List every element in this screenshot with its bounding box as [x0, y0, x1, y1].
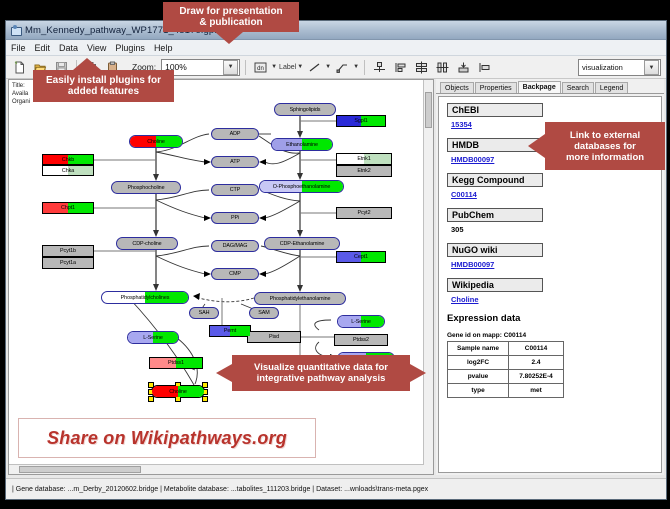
label-icon[interactable]: Label	[279, 64, 296, 71]
gene-node: Pemt	[209, 325, 251, 337]
toolbar-separator-2	[245, 60, 246, 75]
callout-line-1: Easily install plugins for	[46, 75, 161, 86]
chevron-down-icon[interactable]: ▼	[271, 64, 277, 70]
node-label: Ptdss2	[353, 337, 369, 343]
align-center-icon[interactable]	[370, 58, 389, 77]
cofactor-node: CTP	[211, 184, 259, 196]
node-label: CMP	[229, 271, 241, 277]
distribute-vertical-icon[interactable]	[412, 58, 431, 77]
callout-plugins-arrow	[73, 58, 101, 70]
share-banner: Share on Wikipathways.org	[18, 418, 316, 458]
gene-node: Pcyt1b	[42, 245, 94, 257]
cofactor-node: SAM	[249, 307, 279, 319]
tab-search[interactable]: Search	[562, 82, 594, 93]
status-text: | Gene database: ...m_Derby_20120602.bri…	[6, 486, 428, 493]
line-dropdown[interactable]: ▼	[305, 58, 331, 77]
menu-item-help[interactable]: Help	[154, 43, 173, 53]
gene-node: Sgpl1	[336, 115, 386, 127]
metabolite-node: CDP-choline	[116, 237, 178, 250]
canvas-horizontal-scrollbar[interactable]	[9, 464, 424, 474]
gene-node: Etnk2	[336, 165, 392, 177]
callout-visualize: Visualize quantitative data for integrat…	[232, 355, 410, 391]
metabolite-node: L-Serine	[337, 315, 385, 328]
label-dropdown[interactable]: Label▼	[279, 64, 303, 71]
db-link-wikipedia[interactable]: Choline	[451, 295, 661, 304]
node-label: Choline	[169, 389, 187, 395]
visualization-value: visualization	[582, 63, 623, 72]
db-heading-wikipedia: Wikipedia	[447, 278, 543, 292]
node-label: PPi	[231, 215, 239, 221]
row-key: log2FC	[448, 356, 509, 370]
node-label: Phosphocholine	[128, 185, 165, 191]
node-label: Ptdss1	[168, 360, 184, 366]
node-label: Pcyt2	[358, 210, 371, 216]
menu-bar: File Edit Data View Plugins Help	[6, 40, 666, 56]
node-label: Pisd	[269, 334, 279, 340]
side-panel-tabs: Objects Properties Backpage Search Legen…	[436, 79, 664, 94]
metabolite-node: Choline	[129, 135, 183, 148]
gene-node: Chkb	[42, 154, 94, 165]
chevron-down-icon[interactable]: ▼	[297, 64, 303, 70]
node-label: Phosphatidylcholines	[121, 295, 170, 301]
scrollbar-thumb[interactable]	[19, 466, 141, 473]
node-label: SAM	[258, 310, 269, 316]
chevron-down-icon[interactable]: ▼	[223, 60, 238, 75]
callout-line-1: Draw for presentation	[179, 6, 282, 17]
pathvisio-icon	[10, 25, 21, 36]
node-label: Ethanolamine	[286, 142, 318, 148]
node-label: Cept1	[354, 254, 368, 260]
menu-item-view[interactable]: View	[87, 43, 106, 53]
tab-objects[interactable]: Objects	[440, 82, 474, 93]
callout-visualize-arrow-right	[410, 364, 426, 382]
callout-line-1: Link to external	[570, 130, 640, 141]
node-label: DAG/MAG	[223, 243, 248, 249]
callout-line-2: databases for	[574, 141, 636, 152]
expression-table: Sample name C00114 log2FC 2.4 pvalue 7.8…	[447, 341, 564, 398]
node-label: Choline	[147, 139, 165, 145]
distribute-horizontal-icon[interactable]	[433, 58, 452, 77]
toolbar-separator-3	[364, 60, 365, 75]
row-key: Sample name	[448, 342, 509, 356]
gene-node: Chka	[42, 165, 94, 176]
cofactor-node: DAG/MAG	[211, 240, 259, 252]
callout-line-2: & publication	[199, 17, 262, 28]
tab-backpage[interactable]: Backpage	[518, 81, 561, 93]
metabolite-node-selected: Choline	[151, 385, 205, 398]
db-heading-pubchem: PubChem	[447, 208, 543, 222]
callout-line-1: Visualize quantitative data for	[254, 362, 388, 373]
canvas-vertical-scrollbar[interactable]	[423, 80, 433, 474]
cofactor-node: PPi	[211, 212, 259, 224]
title-bar: Mm_Kennedy_pathway_WP1771_45176.gpml	[6, 21, 666, 40]
node-label: Pcyt1b	[60, 248, 76, 254]
gene-node: Ptdss1	[149, 357, 203, 369]
callout-plugins: Easily install plugins for added feature…	[33, 70, 174, 102]
status-bar: | Gene database: ...m_Derby_20120602.bri…	[6, 478, 666, 499]
row-value: 7.80252E-4	[509, 370, 564, 384]
chevron-down-icon[interactable]: ▼	[353, 64, 359, 70]
node-label: Sphingolipids	[290, 107, 321, 113]
expression-data-title: Expression data	[447, 313, 661, 324]
visualization-select[interactable]: visualization ▼	[578, 59, 661, 76]
gene-node: Pcyt2	[336, 207, 392, 219]
gene-node: Ptdss2	[334, 334, 388, 346]
node-label: CDP-choline	[132, 241, 161, 247]
cofactor-node: ADP	[211, 128, 259, 140]
gene-node: Cept1	[336, 251, 386, 263]
table-row: type met	[448, 384, 564, 398]
menu-item-plugins[interactable]: Plugins	[115, 43, 145, 53]
gene-node: Pcyt1a	[42, 257, 94, 269]
scrollbar-thumb[interactable]	[425, 92, 432, 128]
db-heading-nugo: NuGO wiki	[447, 243, 543, 257]
line-icon[interactable]	[305, 58, 324, 77]
datanode-dropdown[interactable]: dn ▼	[251, 58, 277, 77]
anchor-icon[interactable]	[333, 58, 352, 77]
metabolite-node: L-Serine	[127, 331, 179, 344]
row-value: 2.4	[509, 356, 564, 370]
row-key: type	[448, 384, 509, 398]
node-label: Pemt	[224, 328, 236, 334]
pathway-canvas[interactable]: Title: Availa Organi	[8, 79, 434, 475]
metabolite-node: O-Phosphoethanolamine	[259, 180, 344, 193]
gene-id-label: Gene id on mapp: C00114	[447, 332, 661, 339]
metabolite-node: Phosphocholine	[111, 181, 181, 194]
table-row: Sample name C00114	[448, 342, 564, 356]
node-label: Chpt1	[61, 205, 75, 211]
chevron-down-icon[interactable]: ▼	[644, 60, 659, 75]
gene-node: Etnk1	[336, 153, 392, 165]
node-label: Etnk1	[357, 156, 370, 162]
row-key: pvalue	[448, 370, 509, 384]
node-label: Etnk2	[357, 168, 370, 174]
db-heading-kegg: Kegg Compound	[447, 173, 543, 187]
metabolite-node: Ethanolamine	[271, 138, 333, 151]
gene-node: Pisd	[247, 331, 301, 343]
metabolite-node: CDP-Ethanolamine	[264, 237, 340, 250]
callout-line-2: integrative pathway analysis	[257, 373, 386, 384]
row-value: met	[509, 384, 564, 398]
tab-legend[interactable]: Legend	[595, 82, 628, 93]
node-label: ATP	[230, 159, 240, 165]
app-root: Mm_Kennedy_pathway_WP1771_45176.gpml Fil…	[0, 0, 670, 509]
node-label: L-Serine	[143, 335, 163, 341]
align-left-icon[interactable]	[391, 58, 410, 77]
menu-item-data[interactable]: Data	[59, 43, 78, 53]
share-banner-text: Share on Wikipathways.org	[47, 428, 287, 449]
db-link-nugo[interactable]: HMDB00097	[451, 260, 661, 269]
metabolite-node: Phosphatidylethanolamine	[254, 292, 346, 305]
table-row: log2FC 2.4	[448, 356, 564, 370]
anchor-dropdown[interactable]: ▼	[333, 58, 359, 77]
node-label: Chkb	[62, 157, 74, 163]
db-value-pubchem: 305	[451, 225, 661, 234]
node-label: L-Serine	[351, 319, 371, 325]
node-label: Sgpl1	[354, 118, 367, 124]
cofactor-node: CMP	[211, 268, 259, 280]
new-file-icon[interactable]	[10, 58, 29, 77]
node-label: SAH	[199, 310, 210, 316]
node-label: O-Phosphoethanolamine	[273, 184, 331, 190]
callout-draw: Draw for presentation & publication	[163, 2, 299, 32]
node-label: Phosphatidylethanolamine	[270, 296, 331, 302]
menu-item-edit[interactable]: Edit	[35, 43, 51, 53]
tab-properties[interactable]: Properties	[475, 82, 517, 93]
db-heading-chebi: ChEBI	[447, 103, 543, 117]
node-label: CDP-Ethanolamine	[280, 241, 325, 247]
cofactor-node: SAH	[189, 307, 219, 319]
callout-links: Link to external databases for more info…	[545, 122, 665, 170]
db-link-kegg[interactable]: C00114	[451, 190, 661, 199]
chevron-down-icon[interactable]: ▼	[325, 64, 331, 70]
callout-links-arrow	[528, 134, 545, 158]
node-label: Pcyt1a	[60, 260, 76, 266]
gene-node: Chpt1	[42, 202, 94, 214]
callout-draw-arrow	[215, 32, 243, 44]
svg-text:dn: dn	[257, 66, 264, 72]
metabolite-node: Sphingolipids	[274, 103, 336, 116]
table-row: pvalue 7.80252E-4	[448, 370, 564, 384]
stack-icon[interactable]	[454, 58, 473, 77]
node-label: CTP	[230, 187, 240, 193]
datanode-icon[interactable]: dn	[251, 58, 270, 77]
cofactor-node: ATP	[211, 156, 259, 168]
metabolite-node: Phosphatidylcholines	[101, 291, 189, 304]
callout-line-2: added features	[68, 86, 139, 97]
menu-item-file[interactable]: File	[11, 43, 26, 53]
callout-visualize-arrow-left	[216, 364, 232, 382]
callout-line-3: more information	[566, 152, 644, 163]
node-label: ADP	[230, 131, 241, 137]
node-label: Chka	[62, 168, 74, 174]
row-value: C00114	[509, 342, 564, 356]
align-right-icon[interactable]	[475, 58, 494, 77]
